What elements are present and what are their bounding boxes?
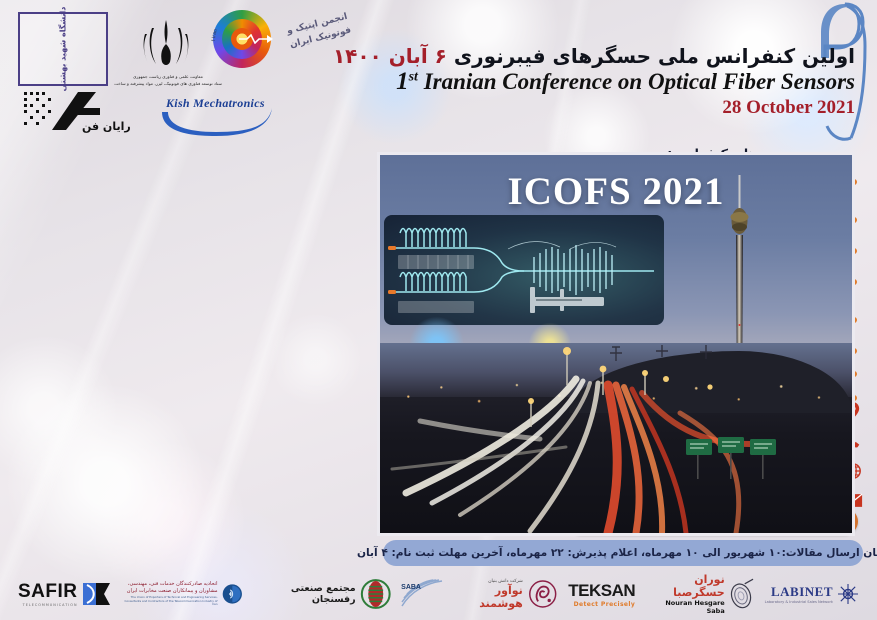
nouran-coil-icon — [729, 577, 755, 611]
logo-teksan: TEKSAN Detect Precisely — [568, 574, 635, 614]
headline-english: 1st Iranian Conference on Optical Fiber … — [355, 69, 855, 95]
headline-block: اولین کنفرانس ملی حسگرهای فیبرنوری ۶ آبا… — [355, 44, 855, 119]
logo-saba: SABA SABA — [401, 574, 443, 614]
logo-mojtame-sanati-rafsanjan: مجتمع صنعتی رفسنجان — [252, 574, 391, 614]
logo-ettehadieh-saderkonandegan: اتحادیه صادرکنندگان خدمات فنی، مهندسی، م… — [122, 574, 243, 614]
rayan-fan-label: رایان فن — [82, 120, 131, 133]
safir-mark-icon — [82, 579, 112, 609]
power-pylons — [610, 345, 712, 361]
light-trails — [380, 343, 852, 533]
ettehadieh-label-en: The Union of Exporters of Technical and … — [122, 596, 218, 608]
headline-ordinal: 1 — [396, 68, 409, 95]
logo-shahid-beheshti-university: دانشگاه شهید بهشتی — [18, 12, 108, 86]
rafsanjan-mark-icon — [360, 577, 391, 611]
safir-label: SAFIR — [18, 581, 78, 603]
ettehadieh-mark-icon — [222, 579, 243, 609]
svg-text:Optics and Photonics Society o: Optics and Photonics Society of Iran — [211, 6, 219, 41]
headline-ordinal-suffix: st — [409, 69, 418, 84]
labinet-sublabel: Laboratory & Industrial Sales Network — [765, 600, 833, 604]
logo-safir: SAFIR TELECOMMUNICATION — [18, 574, 112, 614]
headline-persian-text: اولین کنفرانس ملی حسگرهای فیبرنوری — [454, 44, 855, 68]
labinet-label: LABINET — [765, 584, 833, 600]
ettehadieh-label-fa: اتحادیه صادرکنندگان خدمات فنی، مهندسی، م… — [122, 581, 218, 596]
logo-optics-photonics-society: Optics and Photonics Society of Iran — [213, 10, 277, 74]
logo-iran-emblem — [136, 14, 196, 72]
highway-green-signs — [686, 437, 776, 479]
logo-kish-mechatronics: Kish Mechatronics — [158, 96, 278, 140]
deadlines-banner: زمان ارسال مقالات:۱۰ شهریور الی ۱۰ مهرما… — [383, 540, 863, 566]
noavar-mark-icon — [527, 578, 558, 610]
headline-date-english: 28 October 2021 — [355, 97, 855, 119]
center-hero-image: ICOFS 2021 — [377, 152, 855, 536]
teksan-label: TEKSAN — [568, 581, 635, 601]
labinet-mark-icon — [837, 583, 859, 605]
opsi-circular-text: Optics and Photonics Society of Iran — [211, 6, 281, 76]
noavar-label-fa: نوآور هوشمند — [453, 584, 523, 610]
teksan-tagline: Detect Precisely — [568, 601, 635, 608]
iran-emblem-caption-line2: ستاد توسعه فناوری های فوتونیک، لیزر، موا… — [113, 81, 223, 88]
logo-noavar-hooshmand: شرکت دانش بنیان نوآور هوشمند — [453, 574, 558, 614]
rafsanjan-label: مجتمع صنعتی رفسنجان — [252, 583, 355, 605]
tehran-highway-night-photo — [380, 343, 852, 533]
saba-swoosh-icon: SABA — [401, 579, 443, 609]
photonic-chip-schematic — [384, 215, 664, 325]
headline-english-text: Iranian Conference on Optical Fiber Sens… — [424, 69, 855, 94]
conference-poster: دانشگاه شهید بهشتی معاونت علمی و فناوری … — [0, 0, 877, 620]
top-logo-row: دانشگاه شهید بهشتی معاونت علمی و فناوری … — [8, 4, 368, 144]
caliper-icon — [530, 287, 604, 313]
iran-emblem-caption: معاونت علمی و فناوری ریاست جمهوری ستاد ت… — [113, 74, 223, 87]
logo-labinet: LABINET Laboratory & Industrial Sales Ne… — [765, 574, 859, 614]
kish-swoosh-icon — [158, 106, 276, 138]
iran-emblem-caption-line1: معاونت علمی و فناوری ریاست جمهوری — [113, 74, 223, 81]
logo-rayan-fan: رایان فن — [22, 90, 147, 142]
sbu-logo-text: دانشگاه شهید بهشتی — [58, 7, 68, 92]
headline-persian-date: ۶ آبان ۱۴۰۰ — [333, 44, 447, 68]
icofs-title: ICOFS 2021 — [380, 169, 852, 214]
logo-nouran-hesgare-saba: نوران حسگرصبا Nouran Hesgare Saba — [645, 574, 754, 614]
sponsor-logo-row: LABINET Laboratory & Industrial Sales Ne… — [0, 568, 877, 620]
nouran-label-fa: نوران حسگرصبا — [645, 573, 725, 599]
svg-text:SABA: SABA — [401, 584, 421, 591]
safir-sublabel: TELECOMMUNICATION — [18, 603, 78, 607]
headline-persian: اولین کنفرانس ملی حسگرهای فیبرنوری ۶ آبا… — [355, 44, 855, 68]
nouran-label-en: Nouran Hesgare Saba — [645, 599, 725, 615]
